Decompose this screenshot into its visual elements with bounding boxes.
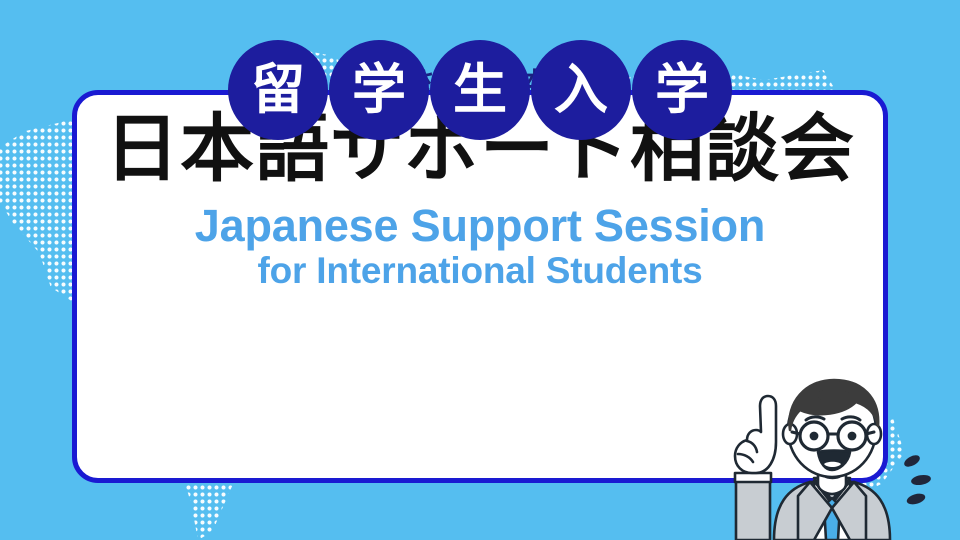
badge-row: 留 学 生 入 学	[228, 40, 733, 140]
badge-char-2: 学	[352, 63, 406, 117]
badge-char-5: 学	[655, 63, 709, 117]
english-title-line1: Japanese Support Session	[0, 202, 960, 249]
badge-char-3: 生	[453, 63, 507, 117]
glasses-temple-right	[866, 432, 874, 434]
badge-char-1: 留	[251, 63, 305, 117]
character-eye-left	[810, 432, 819, 441]
badge-circle-4: 入	[531, 40, 631, 140]
badge-circle-1: 留	[228, 40, 328, 140]
english-title-line2: for International Students	[0, 251, 960, 292]
character-cuff	[735, 473, 771, 482]
character-left-sleeve	[736, 480, 770, 540]
badge-circle-5: 学	[632, 40, 732, 140]
character-illustration-pointing-man	[714, 368, 914, 540]
character-pointing-hand	[735, 396, 776, 473]
badge-circle-3: 生	[430, 40, 530, 140]
character-eye-right	[848, 432, 857, 441]
badge-char-4: 入	[554, 63, 608, 117]
badge-circle-2: 学	[329, 40, 429, 140]
glasses-temple-left	[792, 432, 800, 434]
poster-canvas: 留 学 生 入 学 \ やさしい日本語 / 日本語サポート相談会 Japanes…	[0, 0, 960, 540]
